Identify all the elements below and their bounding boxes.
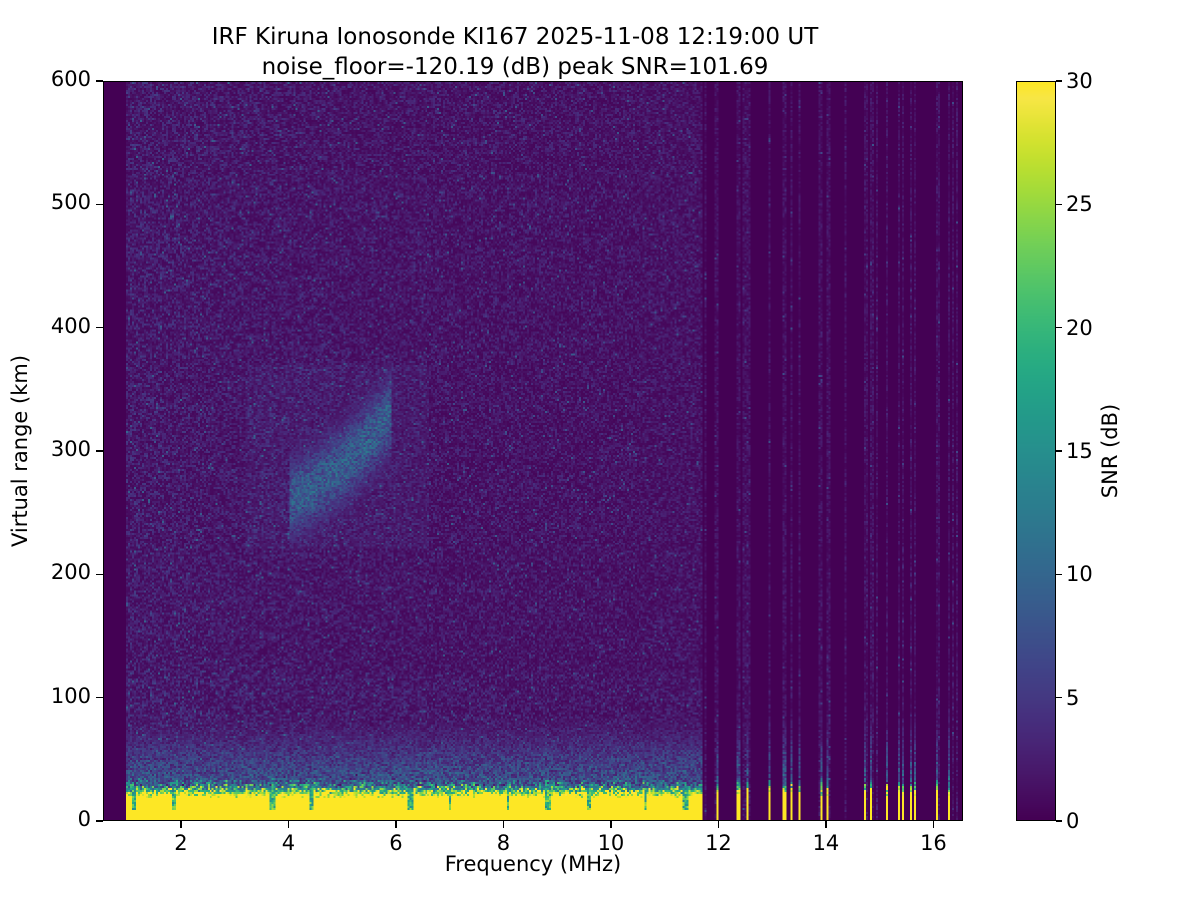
colorbar-tick-label: 30 [1066,69,1093,93]
colorbar-tick-mark [1056,820,1062,821]
colorbar-tick-label: 0 [1066,809,1079,833]
colorbar-tick-label: 25 [1066,192,1093,216]
colorbar-label-wrap: SNR (dB) [1110,81,1111,821]
x-tick-mark [395,821,396,828]
y-tick-label: 100 [51,684,91,708]
y-axis-label-wrap: Virtual range (km) [25,81,26,821]
y-tick-mark [96,820,103,821]
colorbar-tick-label: 5 [1066,686,1079,710]
colorbar-label: SNR (dB) [1098,404,1122,498]
title-line-2: noise_floor=-120.19 (dB) peak SNR=101.69 [0,52,1030,82]
title-line-1: IRF Kiruna Ionosonde KI167 2025-11-08 12… [0,22,1030,52]
colorbar-tick-mark [1056,327,1062,328]
y-tick-mark [96,574,103,575]
colorbar-tick-mark [1056,574,1062,575]
colorbar-tick-mark [1056,450,1062,451]
colorbar-tick-mark [1056,80,1062,81]
x-tick-mark [180,821,181,828]
y-tick-label: 400 [51,314,91,338]
y-tick-mark [96,80,103,81]
x-tick-mark [825,821,826,828]
colorbar-tick-mark [1056,697,1062,698]
x-tick-mark [718,821,719,828]
colorbar-tick-label: 10 [1066,562,1093,586]
y-tick-mark [96,327,103,328]
figure-title: IRF Kiruna Ionosonde KI167 2025-11-08 12… [0,22,1030,82]
ionogram-heatmap[interactable] [104,82,962,820]
colorbar-tick-mark [1056,204,1062,205]
colorbar-ticks: 302520151050 [1016,81,1056,821]
y-tick-label: 200 [51,560,91,584]
colorbar-tick-label: 15 [1066,439,1093,463]
ionogram-figure: IRF Kiruna Ionosonde KI167 2025-11-08 12… [0,0,1200,900]
x-axis-label: Frequency (MHz) [103,852,963,876]
y-tick-mark [96,450,103,451]
y-tick-label: 500 [51,190,91,214]
y-tick-label: 0 [78,807,91,831]
x-tick-mark [610,821,611,828]
x-tick-mark [503,821,504,828]
x-tick-mark [288,821,289,828]
x-tick-mark [933,821,934,828]
y-tick-label: 600 [51,67,91,91]
plot-area[interactable] [103,81,963,821]
y-tick-mark [96,204,103,205]
y-tick-label: 300 [51,437,91,461]
colorbar-tick-label: 20 [1066,316,1093,340]
y-axis-label: Virtual range (km) [8,355,32,547]
y-tick-mark [96,697,103,698]
